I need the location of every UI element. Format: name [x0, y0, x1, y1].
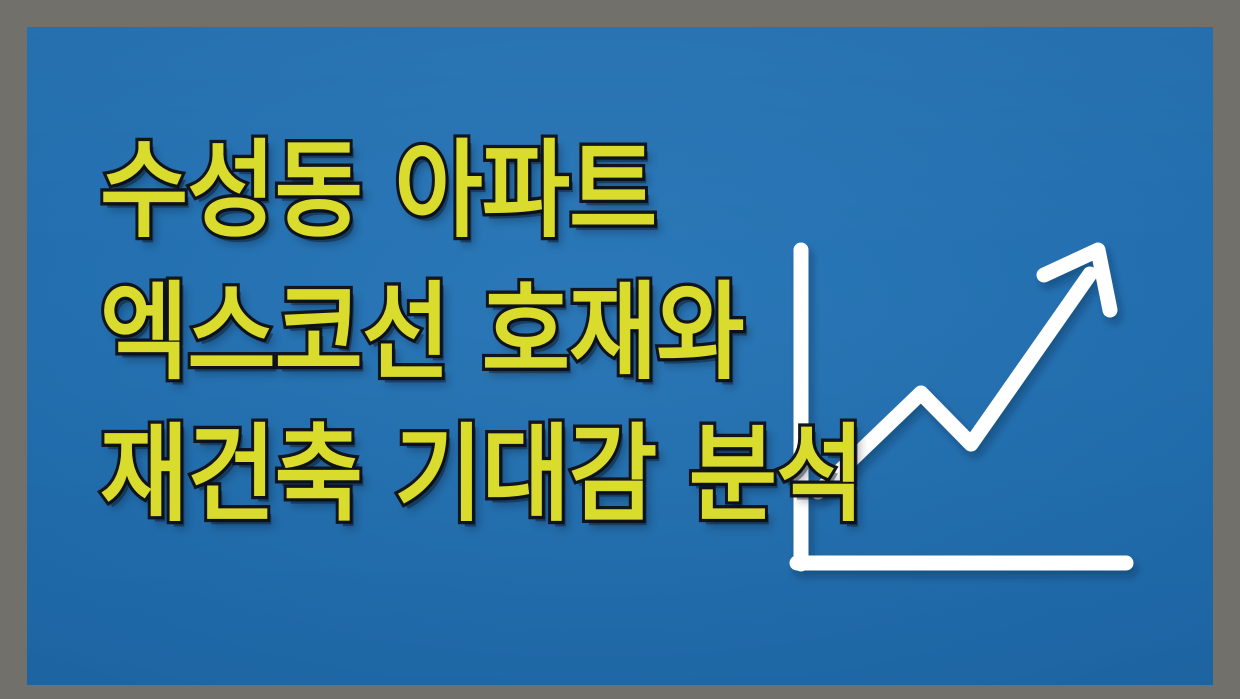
headline-line-2: 엑스코선 호재와	[100, 269, 1100, 398]
thumbnail-root: 수성동 아파트 엑스코선 호재와 재건축 기대감 분석	[0, 0, 1240, 699]
headline-line-1: 수성동 아파트	[100, 127, 1100, 256]
thumbnail-canvas: 수성동 아파트 엑스코선 호재와 재건축 기대감 분석	[27, 27, 1213, 685]
headline-block: 수성동 아파트 엑스코선 호재와 재건축 기대감 분석	[100, 127, 1100, 528]
headline-line-3: 재건축 기대감 분석	[100, 411, 1100, 540]
